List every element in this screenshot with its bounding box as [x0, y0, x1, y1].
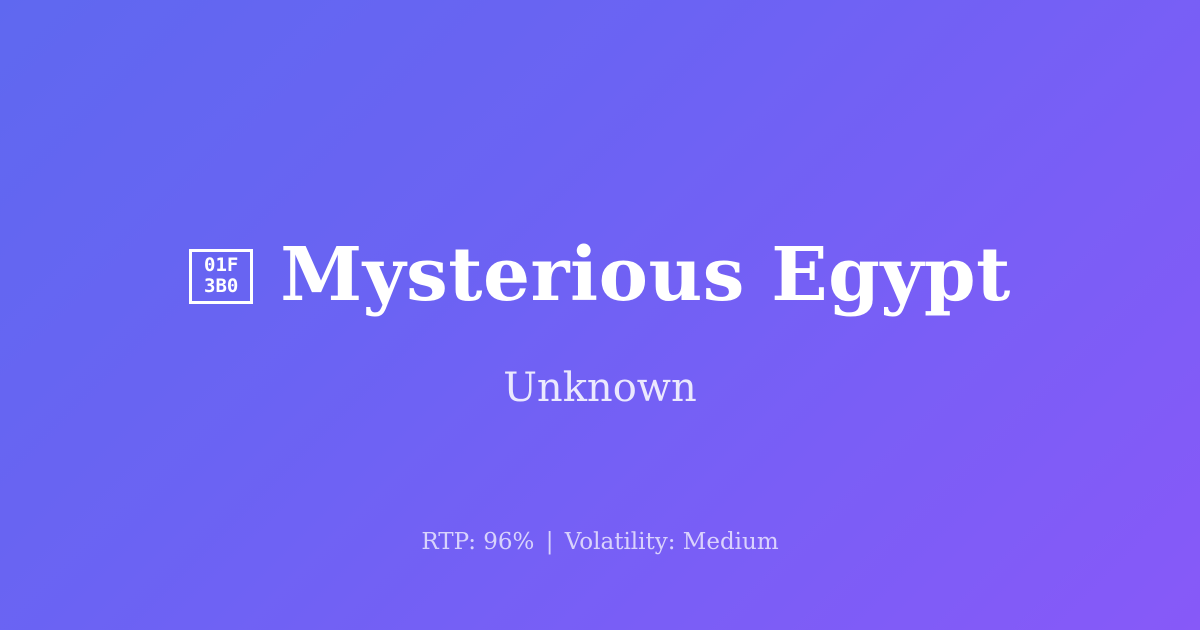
game-stats-line: RTP: 96% | Volatility: Medium: [0, 527, 1200, 557]
missing-glyph-codepoint-bottom: 3B0: [204, 276, 238, 297]
provider-subtitle: Unknown: [0, 364, 1200, 412]
page-title: Mysterious Egypt: [280, 235, 1011, 315]
stats-separator: |: [542, 529, 558, 555]
game-preview-card: 01F 3B0 Mysterious Egypt Unknown RTP: 96…: [0, 0, 1200, 630]
rtp-value: RTP: 96%: [421, 529, 534, 555]
missing-glyph-codepoint-top: 01F: [204, 255, 238, 276]
title-row: 01F 3B0 Mysterious Egypt: [0, 232, 1200, 318]
slot-machine-icon: 01F 3B0: [189, 249, 253, 304]
volatility-value: Volatility: Medium: [565, 529, 779, 555]
